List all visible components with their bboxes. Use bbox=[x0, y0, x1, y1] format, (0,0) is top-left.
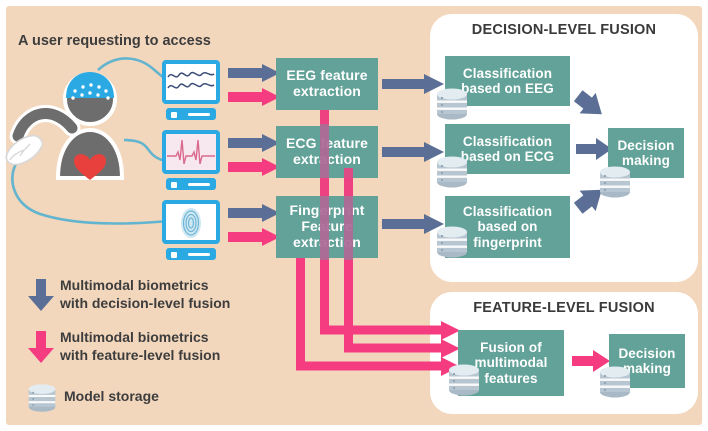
feature-extraction-eeg-label: EEG feature extraction bbox=[286, 68, 367, 99]
arrow-blue-eeg-to-extraction bbox=[228, 64, 280, 82]
ecg-monitor-screen bbox=[162, 130, 220, 174]
decision-level-fusion-title: DECISION-LEVEL FUSION bbox=[430, 22, 698, 38]
arrow-blue-ecg-to-extraction bbox=[228, 134, 280, 152]
arrow-blue-ecg-class-to-decision bbox=[576, 138, 612, 160]
eeg-monitor-base bbox=[166, 108, 216, 120]
legend-item-decision-level: Multimodal biometrics with decision-leve… bbox=[60, 277, 300, 313]
legend-item-model-storage: Model storage bbox=[64, 388, 304, 406]
legend-item-feature-level-line1: Multimodal biometrics bbox=[60, 329, 300, 347]
feature-extraction-eeg[interactable]: EEG feature extraction bbox=[276, 58, 378, 110]
eeg-monitor bbox=[162, 60, 224, 122]
database-icon bbox=[26, 382, 58, 414]
feature-extraction-fingerprint[interactable]: Fingerprint Feature extraction bbox=[276, 196, 378, 258]
arrow-pink-eeg-to-extraction bbox=[228, 88, 280, 106]
feature-extraction-ecg-label: ECG feature extraction bbox=[286, 136, 368, 167]
fingerprint-scanner-screen bbox=[162, 200, 220, 244]
model-storage-classification-fingerprint bbox=[434, 224, 470, 260]
diagram-canvas: DECISION-LEVEL FUSION FEATURE-LEVEL FUSI… bbox=[0, 0, 708, 431]
fingerprint-scanner bbox=[162, 200, 224, 262]
arrow-blue-eeg-class-to-decision bbox=[574, 92, 608, 126]
legend-item-model-storage-line1: Model storage bbox=[64, 388, 304, 406]
model-storage-decision-level bbox=[597, 164, 633, 200]
eeg-monitor-screen bbox=[162, 60, 220, 104]
down-arrow-pink-icon bbox=[28, 331, 54, 363]
down-arrow-blue-icon bbox=[28, 279, 54, 311]
eeg-waveform-icon bbox=[166, 64, 216, 100]
classification-fingerprint-label: Classification based on fingerprint bbox=[463, 204, 552, 249]
legend-item-feature-level-line2: with feature-level fusion bbox=[60, 347, 300, 365]
fingerprint-scanner-base bbox=[166, 248, 216, 260]
legend-item-decision-level-line1: Multimodal biometrics bbox=[60, 277, 300, 295]
feature-extraction-ecg[interactable]: ECG feature extraction bbox=[276, 126, 378, 178]
fingerprint-icon bbox=[166, 204, 216, 240]
arrow-pink-fingerprint-to-extraction bbox=[228, 228, 280, 246]
arrow-pink-ecg-to-extraction bbox=[228, 158, 280, 176]
ecg-monitor-base bbox=[166, 178, 216, 190]
model-storage-classification-ecg bbox=[434, 154, 470, 190]
feature-extraction-fingerprint-label: Fingerprint Feature extraction bbox=[290, 203, 365, 250]
model-storage-fusion bbox=[446, 362, 482, 398]
user-illustration bbox=[0, 44, 180, 224]
legend-item-decision-level-line2: with decision-level fusion bbox=[60, 295, 300, 313]
classification-eeg-label: Classification based on EEG bbox=[461, 66, 554, 96]
model-storage-feature-level bbox=[597, 364, 633, 400]
classification-ecg-label: Classification based on ECG bbox=[461, 134, 554, 164]
ecg-waveform-icon bbox=[166, 134, 216, 170]
fusion-of-multimodal-features-label: Fusion of multimodal features bbox=[474, 340, 547, 385]
arrow-blue-fingerprint-to-extraction bbox=[228, 204, 280, 222]
legend-item-feature-level: Multimodal biometrics with feature-level… bbox=[60, 329, 300, 365]
ecg-monitor bbox=[162, 130, 224, 192]
model-storage-classification-eeg bbox=[434, 86, 470, 122]
